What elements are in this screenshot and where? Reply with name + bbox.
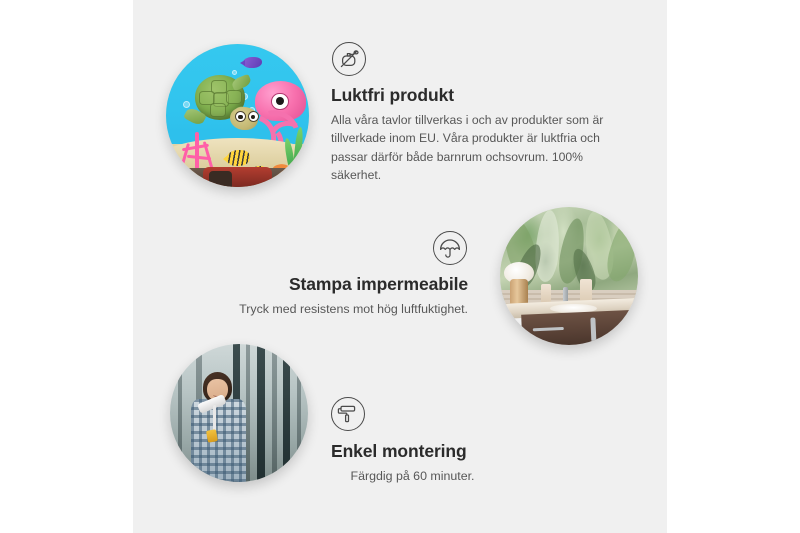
feature-odour-free: Luktfri produkt Alla våra tavlor tillver… [331, 42, 627, 184]
feature-easy-mounting: Enkel montering Färgdig på 60 minuter. [331, 397, 581, 486]
feature-title: Enkel montering [331, 441, 581, 462]
feature-body: Alla våra tavlor tillverkas i och av pro… [331, 111, 627, 184]
feature-body: Färgdig på 60 minuter. [331, 467, 494, 486]
feature-body: Tryck med resistens mot hög luftfuktighe… [215, 300, 468, 319]
feature-title: Luktfri produkt [331, 85, 627, 106]
underwater-cartoon-photo [166, 44, 309, 187]
promo-graphic: Luktfri produkt Alla våra tavlor tillver… [0, 0, 800, 533]
umbrella-icon [433, 231, 467, 265]
woman-paint-roller-forest-photo [170, 344, 308, 482]
no-fragrance-icon [332, 42, 366, 76]
paint-roller-icon [331, 397, 365, 431]
feature-waterproof-print: Stampa impermeabile Tryck med resistens … [215, 231, 468, 319]
bathroom-tropical-wallpaper-photo [500, 207, 638, 345]
feature-title: Stampa impermeabile [215, 274, 468, 295]
